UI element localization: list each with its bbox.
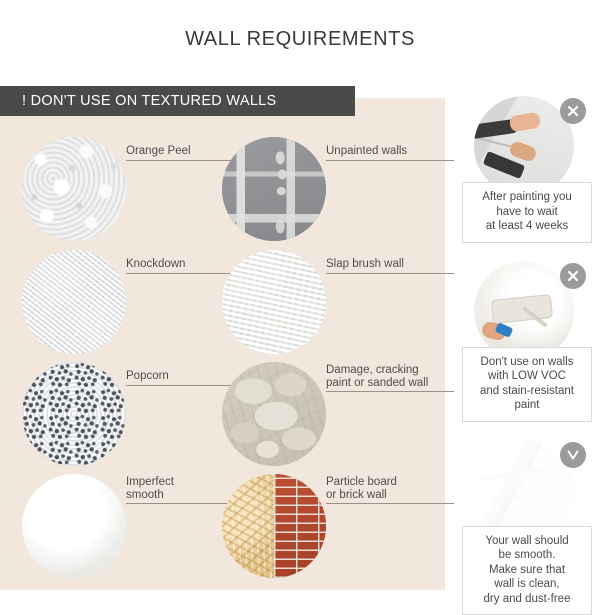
texture-swatch-unpainted bbox=[222, 137, 326, 241]
check-icon bbox=[560, 442, 586, 468]
texture-swatch-knockdown bbox=[22, 250, 126, 354]
texture-swatch-imperfect-smooth bbox=[22, 474, 126, 578]
x-icon bbox=[560, 263, 586, 289]
page-title: WALL REQUIREMENTS bbox=[0, 28, 600, 51]
label-underline bbox=[326, 391, 454, 392]
texture-label: Unpainted walls bbox=[326, 145, 458, 160]
label-underline bbox=[326, 160, 454, 161]
side-card-image-wrap bbox=[462, 96, 592, 182]
side-card-image-wrap bbox=[462, 261, 592, 347]
label-underline bbox=[326, 503, 454, 504]
label-underline bbox=[326, 273, 454, 274]
side-cards-column: After painting you have to wait at least… bbox=[462, 96, 592, 615]
texture-swatch-slap-brush bbox=[222, 250, 326, 354]
card-spacer bbox=[462, 422, 592, 440]
particle-board-half bbox=[222, 474, 274, 578]
hand-touching-wall-image bbox=[474, 96, 574, 196]
side-card-text: After painting you have to wait at least… bbox=[462, 182, 592, 243]
infographic-page: WALL REQUIREMENTS ! DON'T USE ON TEXTURE… bbox=[0, 0, 600, 600]
brick-wall-half bbox=[274, 474, 326, 578]
texture-swatch-particle-brick bbox=[222, 474, 326, 578]
side-card-wait-4-weeks[interactable]: After painting you have to wait at least… bbox=[462, 96, 592, 243]
texture-swatch-damage bbox=[222, 362, 326, 466]
side-card-low-voc[interactable]: Don't use on walls with LOW VOC and stai… bbox=[462, 261, 592, 422]
paint-roller-image bbox=[474, 261, 574, 361]
texture-swatch-popcorn bbox=[22, 362, 126, 466]
x-icon bbox=[560, 98, 586, 124]
side-card-smooth-wall[interactable]: Your wall should be smooth. Make sure th… bbox=[462, 440, 592, 615]
side-card-image-wrap bbox=[462, 440, 592, 526]
side-card-text: Don't use on walls with LOW VOC and stai… bbox=[462, 347, 592, 422]
side-card-text: Your wall should be smooth. Make sure th… bbox=[462, 526, 592, 615]
card-spacer bbox=[462, 243, 592, 261]
texture-label: Damage, cracking paint or sanded wall bbox=[326, 364, 458, 391]
texture-label: Particle board or brick wall bbox=[326, 476, 458, 503]
texture-label: Slap brush wall bbox=[326, 258, 458, 273]
texture-swatch-orange-peel bbox=[22, 137, 126, 241]
smooth-wall-window-light-image bbox=[474, 440, 574, 540]
texture-grid: Orange Peel Unpainted walls Knockdown bbox=[0, 98, 445, 590]
